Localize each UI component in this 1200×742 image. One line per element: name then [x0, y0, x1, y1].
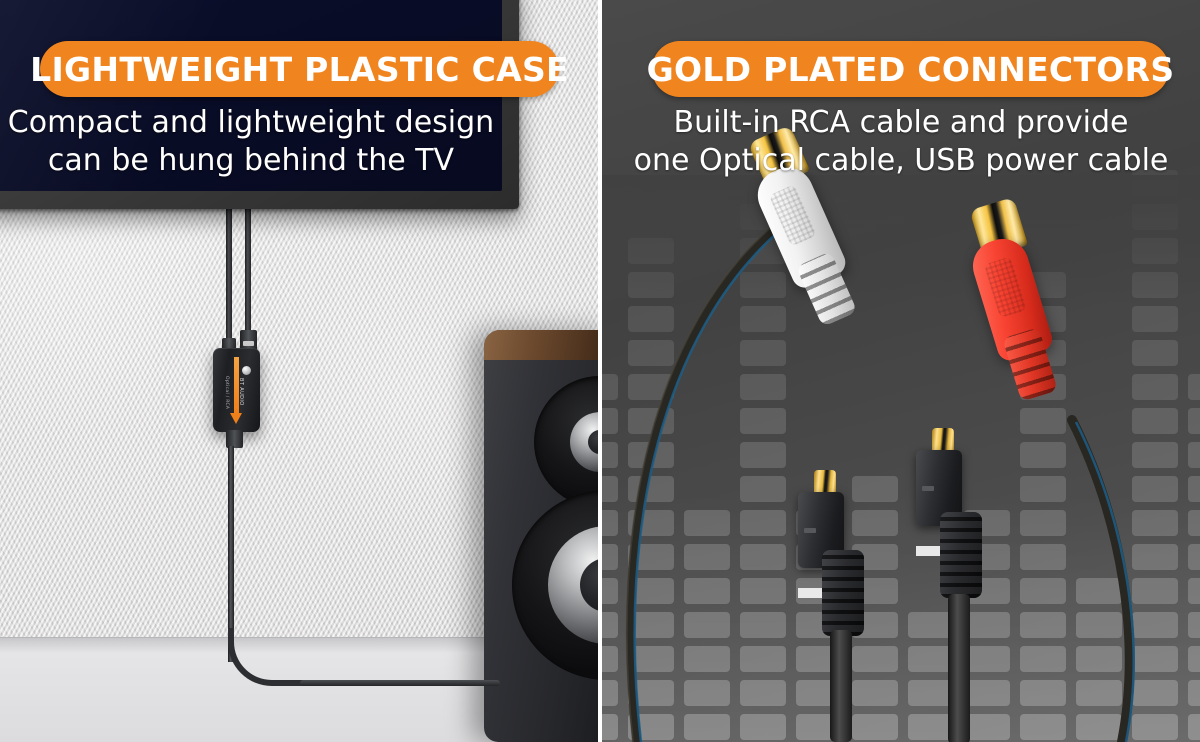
left-subtitle-line-2: can be hung behind the TV — [0, 142, 502, 180]
optical-back-strain-relief — [940, 512, 982, 598]
bluetooth-audio-adapter: BT AUDIO Optical / RCA — [213, 348, 260, 432]
optical-back-notch — [922, 486, 934, 491]
device-label-primary: BT AUDIO — [238, 378, 244, 418]
cable-along-floor — [300, 680, 500, 686]
product-feature-banner: BT AUDIO Optical / RCA LIGHTWEIGHT PLAST… — [0, 0, 1200, 742]
right-badge-label: GOLD PLATED CONNECTORS — [647, 50, 1175, 89]
optical-front-wire — [830, 630, 852, 742]
cable-optical-segment — [226, 200, 232, 348]
left-subtitle: Compact and lightweight design can be hu… — [0, 104, 502, 181]
left-badge-label: LIGHTWEIGHT PLASTIC CASE — [30, 50, 569, 89]
optical-front-notch — [804, 528, 816, 533]
brand-logo-icon — [242, 366, 251, 375]
cable-rca-segment — [245, 200, 251, 338]
left-badge: LIGHTWEIGHT PLASTIC CASE — [40, 41, 559, 97]
left-subtitle-line-1: Compact and lightweight design — [0, 104, 502, 142]
device-label-secondary: Optical / RCA — [224, 376, 229, 420]
speaker-wood-top — [484, 330, 598, 360]
right-subtitle-line-2: one Optical cable, USB power cable — [602, 142, 1200, 180]
optical-back-wire — [948, 594, 970, 742]
right-subtitle: Built-in RCA cable and provide one Optic… — [602, 104, 1200, 181]
right-badge: GOLD PLATED CONNECTORS — [652, 41, 1169, 97]
left-feature-panel: BT AUDIO Optical / RCA LIGHTWEIGHT PLAST… — [0, 0, 598, 742]
optical-front-strain-relief — [822, 550, 864, 636]
right-subtitle-line-1: Built-in RCA cable and provide — [602, 104, 1200, 142]
